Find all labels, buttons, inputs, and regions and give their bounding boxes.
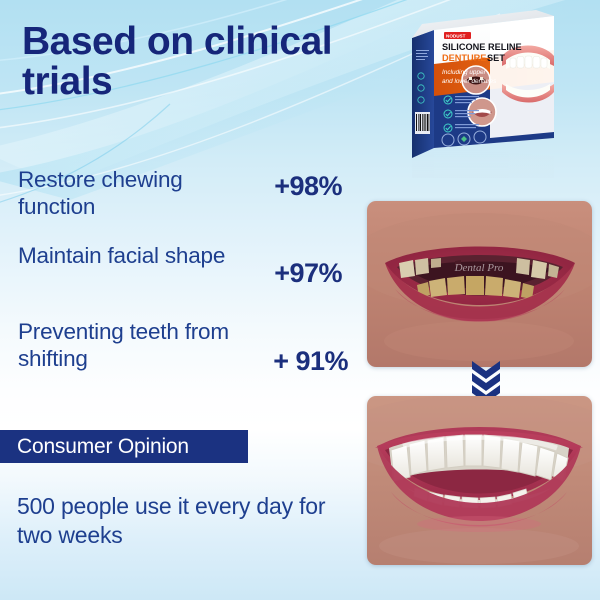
product-package-image: NODUST SILICONE RELINE DENTURE SET Inclu… — [404, 8, 594, 178]
product-badge-text: NODUST — [446, 34, 466, 39]
benefit-percentage: +97% — [274, 258, 342, 289]
product-title-line1: SILICONE RELINE — [442, 42, 522, 52]
benefit-row: Preventing teeth from shifting + 91% — [18, 318, 360, 394]
photo-watermark: Dental Pro — [454, 262, 504, 274]
page-title: Based on clinical trials — [22, 22, 382, 102]
benefit-label: Restore chewing function — [18, 166, 243, 220]
before-photo: Dental Pro — [367, 201, 592, 367]
benefit-label: Maintain facial shape — [18, 242, 243, 269]
product-subtitle-line2: and lower dentures — [442, 78, 497, 85]
product-title-denture: DENTURE — [442, 53, 486, 63]
benefit-row: Maintain facial shape +97% — [18, 242, 360, 318]
product-title-set: SET — [487, 53, 505, 63]
consumer-opinion-heading: Consumer Opinion — [0, 430, 248, 463]
consumer-opinion-bar: Consumer Opinion — [0, 430, 248, 463]
benefit-row: Restore chewing function +98% — [18, 166, 360, 242]
product-subtitle-line1: Including upper — [442, 69, 487, 76]
consumer-opinion-text: 500 people use it every day for two week… — [17, 492, 347, 549]
promo-banner: Based on clinical trials Restore chewing… — [0, 0, 600, 600]
benefit-percentage: +98% — [274, 171, 342, 202]
benefit-percentage: + 91% — [273, 346, 348, 377]
benefits-list: Restore chewing function +98% Maintain f… — [18, 166, 360, 394]
benefit-label: Preventing teeth from shifting — [18, 318, 243, 372]
after-photo — [367, 396, 592, 565]
